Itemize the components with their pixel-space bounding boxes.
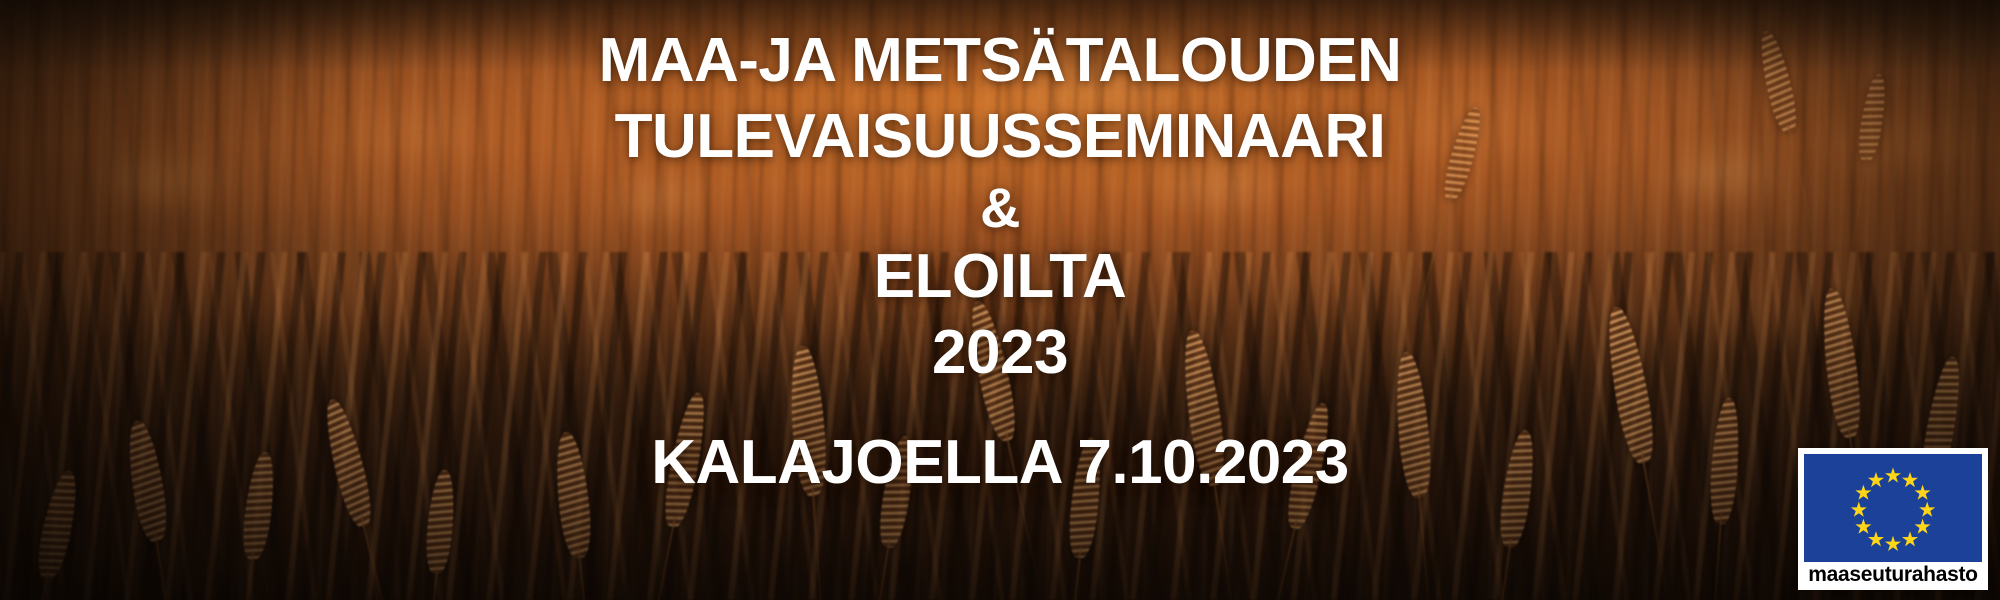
eu-flag-icon [1804, 454, 1982, 562]
title-ampersand: & [980, 180, 1020, 236]
title-line-eloilta: ELOILTA [874, 246, 1127, 308]
event-banner: MAA-JA METSÄTALOUDEN TULEVAISUUSSEMINAAR… [0, 0, 2000, 600]
title-line-1: MAA-JA METSÄTALOUDEN [599, 30, 1402, 92]
banner-text-block: MAA-JA METSÄTALOUDEN TULEVAISUUSSEMINAAR… [0, 0, 2000, 600]
logo-caption: maaseuturahasto [1804, 563, 1982, 588]
title-line-2: TULEVAISUUSSEMINAARI [615, 106, 1386, 168]
eu-maaseuturahasto-logo: maaseuturahasto [1798, 448, 1988, 590]
event-location-date: KALAJOELLA 7.10.2023 [651, 432, 1349, 494]
title-year: 2023 [932, 322, 1068, 384]
